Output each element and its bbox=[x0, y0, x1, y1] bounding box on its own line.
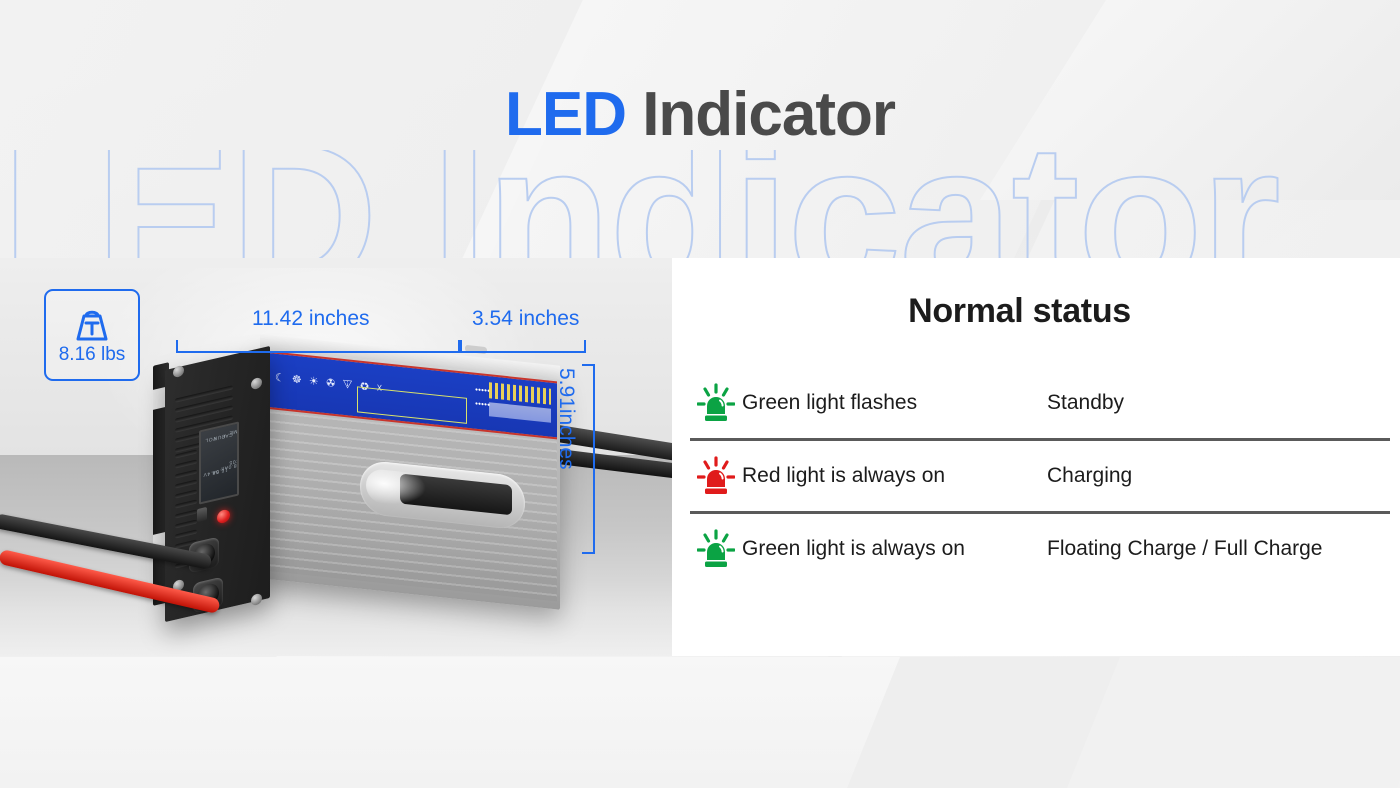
weight-value: 8.16 lbs bbox=[59, 345, 126, 364]
dimension-height-label: 5.91inches bbox=[554, 368, 578, 470]
weight-icon bbox=[71, 307, 113, 343]
lcd-display: VOL CUR CAP TIME 58.4V 15.0A 78.0Ah 00:2… bbox=[199, 421, 239, 504]
label-barcode-strip bbox=[489, 382, 551, 405]
label-logo-strip bbox=[489, 402, 551, 423]
panel-screw bbox=[251, 593, 262, 607]
lcd-value-time: 00:20:05 bbox=[229, 454, 239, 465]
label-spec-line-1: ●●●●● bbox=[475, 387, 490, 395]
page-title-accent: LED bbox=[505, 80, 626, 149]
beacon-icon-green bbox=[690, 383, 742, 423]
status-row-list: Green light flashes Standby bbox=[690, 368, 1390, 584]
background-bottom-diagonal-b bbox=[1067, 657, 1400, 788]
status-row-full: Green light is always on Floating Charge… bbox=[690, 511, 1390, 584]
status-state: Charging bbox=[1047, 464, 1132, 488]
status-description: Green light is always on bbox=[742, 537, 1047, 561]
weight-badge: 8.16 lbs bbox=[44, 289, 140, 381]
infographic-canvas: LED Indicator LED Indicator ☓ ♻ ⚠ ☢ ☀ ☸ … bbox=[0, 0, 1400, 788]
dimension-bracket-length bbox=[176, 340, 460, 353]
dimension-length-label: 11.42 inches bbox=[252, 307, 370, 331]
watermark-text: LED Indicator bbox=[0, 150, 1279, 262]
beacon-icon-red bbox=[690, 456, 742, 496]
status-description: Red light is always on bbox=[742, 464, 1047, 488]
lcd-label-time: TIME bbox=[229, 426, 239, 435]
status-card: Normal status bbox=[672, 258, 1400, 656]
beacon-icon-green bbox=[690, 529, 742, 569]
status-state: Standby bbox=[1047, 391, 1124, 415]
dimension-depth-label: 3.54 inches bbox=[472, 307, 579, 331]
status-row-charging: Red light is always on Charging bbox=[690, 438, 1390, 511]
status-description: Green light flashes bbox=[742, 391, 1047, 415]
status-row-standby: Green light flashes Standby bbox=[690, 368, 1390, 438]
page-title: LED Indicator bbox=[0, 84, 1400, 146]
label-spec-line-2: ●●●●● bbox=[475, 401, 490, 409]
dimension-bracket-depth bbox=[460, 340, 586, 353]
power-switch bbox=[197, 507, 207, 522]
label-warning-box bbox=[357, 386, 467, 424]
watermark-clip: LED Indicator bbox=[0, 150, 1400, 262]
page-title-rest: Indicator bbox=[626, 80, 895, 149]
status-state: Floating Charge / Full Charge bbox=[1047, 537, 1322, 561]
status-card-title: Normal status bbox=[672, 292, 1367, 331]
dimension-bracket-height bbox=[582, 364, 595, 554]
charger-unit: ☓ ♻ ⚠ ☢ ☀ ☸ ☽ ●●●●● ●●●●● bbox=[165, 358, 585, 608]
